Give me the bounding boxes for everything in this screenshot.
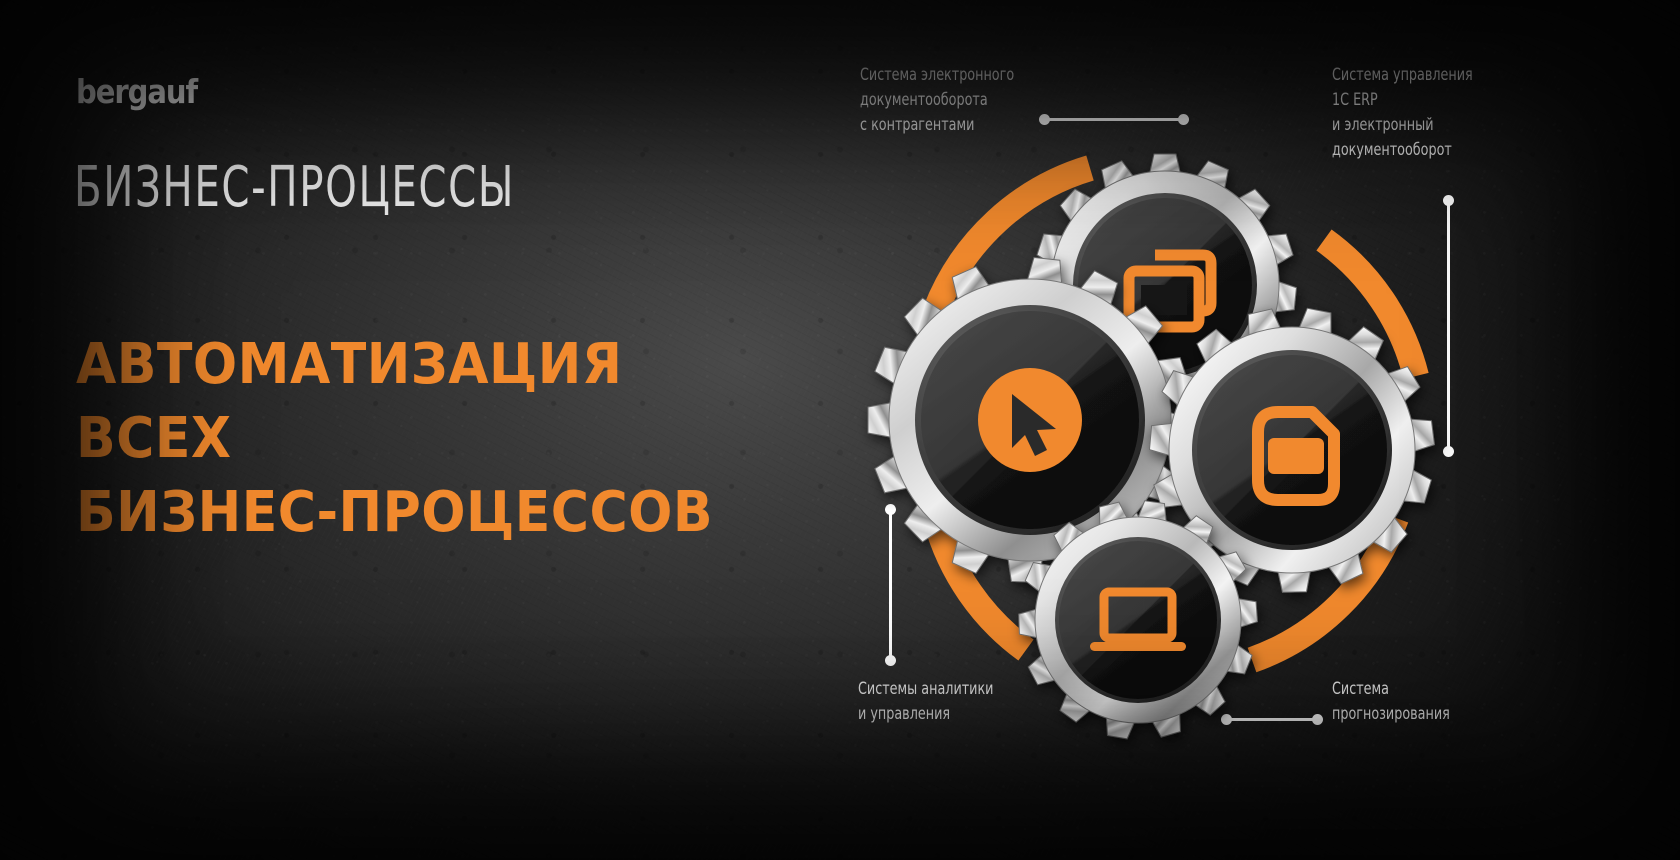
page-title: АВТОМАТИЗАЦИЯ ВСЕХ БИЗНЕС-ПРОЦЕССОВ xyxy=(76,328,836,550)
gear-diagram-svg xyxy=(840,120,1540,760)
annotation-line: Система электронного xyxy=(860,62,1014,87)
headline-line-3: БИЗНЕС-ПРОЦЕССОВ xyxy=(76,476,783,550)
gear-diagram xyxy=(840,120,1540,760)
promo-banner: bergauf БИЗНЕС-ПРОЦЕССЫ АВТОМАТИЗАЦИЯ ВС… xyxy=(0,0,1680,860)
headline-line-1: АВТОМАТИЗАЦИЯ xyxy=(76,328,783,402)
headline-line-2: ВСЕХ xyxy=(76,402,783,476)
annotation-line: Система управления xyxy=(1332,62,1473,87)
page-kicker: БИЗНЕС-ПРОЦЕССЫ xyxy=(74,160,515,216)
gear-face-sheen xyxy=(1059,541,1217,699)
brand-logo: bergauf xyxy=(76,72,197,111)
annotation-line: 1C ERP xyxy=(1332,87,1473,112)
annotation-line: документооборота xyxy=(860,87,1014,112)
